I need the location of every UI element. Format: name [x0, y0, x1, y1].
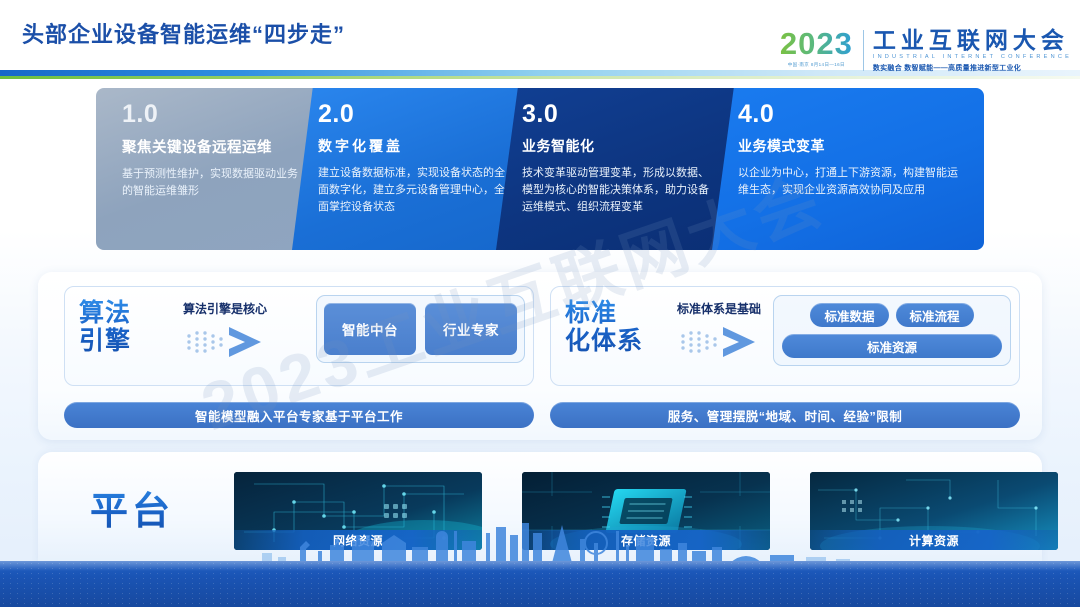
algorithm-footbar: 智能模型融入平台专家基于平台工作: [64, 402, 534, 428]
step-2-title: 数字化覆盖: [318, 136, 508, 156]
pill-standard-process[interactable]: 标准流程: [896, 303, 974, 327]
logo-year-text: 2023: [780, 28, 853, 59]
step-panel-3: 3.0 业务智能化 技术变革驱动管理变革，形成以数据、模型为核心的智能决策体系，…: [496, 88, 738, 250]
step-2-number: 2.0: [318, 102, 508, 127]
algorithm-engine-section: 算法 引擎 算法引擎是核心: [64, 286, 534, 428]
step-4-description: 以企业为中心，打通上下游资源，构建智能运维生态，实现企业资源高效协同及应用: [738, 165, 960, 199]
header-rule-green: [0, 76, 1080, 79]
logo-chinese-name: 工业互联网大会: [873, 28, 1072, 52]
standards-heading-line1: 标准: [565, 299, 617, 327]
logo-year-block: 2023 中国·南京 8月14日—16日: [780, 28, 863, 68]
algorithm-arrow: [183, 323, 279, 361]
pill-standard-data[interactable]: 标准数据: [810, 303, 888, 327]
logo-date-text: 中国·南京 8月14日—16日: [780, 62, 853, 68]
footer-floor: [0, 561, 1080, 607]
algorithm-engine-heading: 算法 引擎: [79, 299, 171, 355]
logo-text-block: 工业互联网大会 INDUSTRIAL INTERNET CONFERENCE 数…: [873, 28, 1072, 73]
algorithm-card-group: 智能中台 行业专家: [316, 295, 525, 363]
step-panel-1: 1.0 聚焦关键设备远程运维 基于预测性维护，实现数据驱动业务的智能运维雏形: [96, 88, 318, 250]
standards-heading-line2: 化体系: [565, 327, 643, 355]
page-title: 头部企业设备智能运维“四步走”: [22, 17, 345, 49]
footer-floor-dots: [0, 561, 1080, 607]
pill-standard-resource[interactable]: 标准资源: [782, 334, 1002, 358]
logo-subtitle: 数实融合 数智赋能——高质量推进新型工业化: [873, 63, 1072, 73]
step-4-title: 业务模式变革: [738, 136, 970, 156]
logo-english-name: INDUSTRIAL INTERNET CONFERENCE: [873, 54, 1072, 60]
step-panel-2: 2.0 数字化覆盖 建立设备数据标准，实现设备状态的全面数字化，建立多元设备管理…: [292, 88, 522, 250]
step-1-number: 1.0: [122, 102, 304, 127]
step-3-title: 业务智能化: [522, 136, 724, 156]
capability-panel: 算法 引擎 算法引擎是核心: [38, 272, 1042, 440]
algorithm-engine-box: 算法 引擎 算法引擎是核心: [64, 286, 534, 386]
standards-footbar: 服务、管理摆脱“地域、时间、经验”限制: [550, 402, 1020, 428]
card-industry-expert[interactable]: 行业专家: [425, 303, 517, 355]
standards-system-box: 标准 化体系 标准体系是基础: [550, 286, 1020, 386]
standards-tagline: 标准体系是基础: [677, 300, 761, 317]
standards-arrow: [677, 323, 773, 361]
standards-system-section: 标准 化体系 标准体系是基础: [550, 286, 1020, 428]
standards-pill-group: 标准数据 标准流程 标准资源: [773, 295, 1011, 366]
dotted-arrow-icon: [677, 323, 773, 361]
standards-heading: 标准 化体系: [565, 299, 665, 355]
step-2-description: 建立设备数据标准，实现设备状态的全面数字化，建立多元设备管理中心，全面掌控设备状…: [318, 165, 508, 216]
algorithm-heading-line2: 引擎: [79, 327, 131, 355]
algorithm-card-outline: 智能中台 行业专家: [316, 295, 525, 363]
step-1-title: 聚焦关键设备远程运维: [122, 136, 304, 157]
step-1-description: 基于预测性维护，实现数据驱动业务的智能运维雏形: [122, 166, 304, 200]
step-4-number: 4.0: [738, 102, 970, 127]
step-panel-4: 4.0 业务模式变革 以企业为中心，打通上下游资源，构建智能运维生态，实现企业资…: [712, 88, 984, 250]
step-3-number: 3.0: [522, 102, 724, 127]
standards-pill-outline: 标准数据 标准流程 标准资源: [773, 295, 1011, 366]
algorithm-tagline: 算法引擎是核心: [183, 300, 267, 317]
skyline-icon: [0, 517, 1080, 563]
logo-divider: [863, 30, 864, 71]
card-intelligent-midplatform[interactable]: 智能中台: [324, 303, 416, 355]
dotted-arrow-icon: [183, 323, 279, 361]
four-step-banner: 1.0 聚焦关键设备远程运维 基于预测性维护，实现数据驱动业务的智能运维雏形 2…: [96, 88, 984, 250]
step-3-description: 技术变革驱动管理变革，形成以数据、模型为核心的智能决策体系，助力设备运维模式、组…: [522, 165, 717, 216]
conference-logo: 2023 中国·南京 8月14日—16日 工业互联网大会 INDUSTRIAL …: [780, 28, 1072, 73]
city-skyline-decoration: [0, 517, 1080, 563]
slide-root: 头部企业设备智能运维“四步走” 2023 中国·南京 8月14日—16日 工业互…: [0, 0, 1080, 607]
algorithm-heading-line1: 算法: [79, 299, 131, 327]
